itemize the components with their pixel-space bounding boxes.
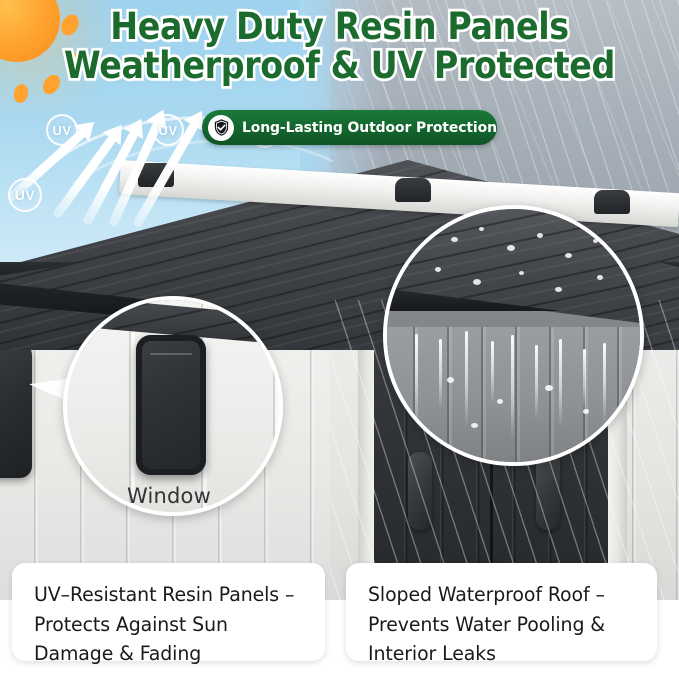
sloped-roof-caption-card: Sloped Waterproof Roof – Prevents Water … bbox=[346, 563, 657, 661]
uv-resistant-caption-card: UV–Resistant Resin Panels – Protects Aga… bbox=[12, 563, 325, 661]
water-droplet bbox=[479, 227, 484, 231]
sloped-roof-caption-text: Sloped Waterproof Roof – Prevents Water … bbox=[368, 580, 629, 669]
water-drip bbox=[583, 349, 586, 415]
uv-mark-label: UV bbox=[52, 123, 71, 138]
water-drip bbox=[535, 345, 538, 419]
water-droplet bbox=[451, 237, 458, 242]
uv-resistant-caption-text: UV–Resistant Resin Panels – Protects Aga… bbox=[34, 580, 297, 669]
water-drip bbox=[465, 331, 468, 427]
rain-callout bbox=[383, 205, 644, 466]
callout-window-panel bbox=[136, 335, 206, 475]
water-drip bbox=[603, 343, 606, 423]
water-droplet bbox=[593, 239, 598, 243]
shield-check-icon bbox=[208, 115, 234, 141]
headline-block: Heavy Duty Resin Panels Weatherproof & U… bbox=[0, 8, 679, 86]
uv-mark-icon: UV bbox=[8, 178, 42, 212]
water-droplet bbox=[519, 271, 524, 275]
water-drip bbox=[559, 339, 562, 427]
window-callout bbox=[63, 296, 283, 516]
water-droplet bbox=[471, 423, 478, 428]
water-droplet bbox=[497, 399, 503, 404]
shed-side-window bbox=[0, 343, 32, 478]
water-droplet bbox=[435, 267, 441, 272]
door-frame-left bbox=[358, 308, 375, 600]
headline-line-1: Heavy Duty Resin Panels bbox=[34, 8, 645, 45]
water-droplet bbox=[473, 279, 481, 285]
uv-mark-icon: UV bbox=[152, 114, 184, 146]
door-handle-right bbox=[536, 452, 560, 530]
water-droplet bbox=[597, 275, 603, 280]
product-infographic: UV UV UV UV Heavy Duty Resin Panels Weat… bbox=[0, 0, 679, 679]
protection-badge: Long-Lasting Outdoor Protection bbox=[202, 110, 497, 145]
ridge-bracket bbox=[395, 178, 431, 202]
window-callout-label: Window bbox=[63, 484, 275, 508]
water-droplet bbox=[507, 245, 515, 251]
water-droplet bbox=[565, 253, 572, 258]
uv-mark-label: UV bbox=[15, 187, 35, 203]
water-droplet bbox=[537, 233, 543, 238]
water-drip bbox=[415, 334, 418, 418]
protection-badge-label: Long-Lasting Outdoor Protection bbox=[242, 120, 497, 136]
water-droplet bbox=[545, 385, 553, 391]
water-drip bbox=[511, 335, 514, 439]
door-handle-left bbox=[408, 452, 432, 530]
water-drip bbox=[491, 341, 494, 403]
water-droplet bbox=[447, 377, 454, 383]
uv-mark-icon: UV bbox=[46, 114, 78, 146]
water-droplet bbox=[583, 409, 589, 414]
water-droplet bbox=[555, 287, 562, 292]
water-drip bbox=[439, 339, 442, 409]
uv-mark-label: UV bbox=[158, 123, 177, 138]
headline-line-2: Weatherproof & UV Protected bbox=[34, 47, 645, 84]
